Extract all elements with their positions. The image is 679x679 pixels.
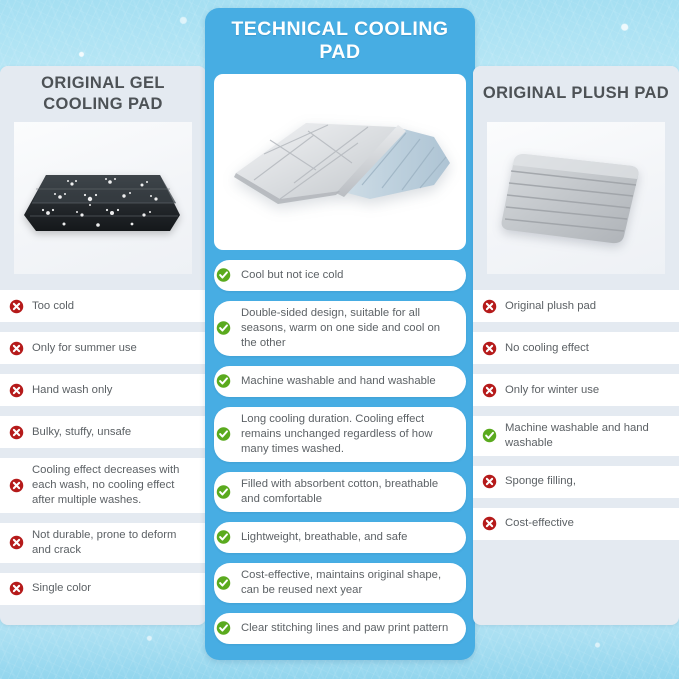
cross-circle-icon [482, 341, 497, 356]
cross-circle-icon [9, 341, 24, 356]
list-item-label: Lightweight, breathable, and safe [241, 530, 407, 545]
right-feature-list: Original plush padNo cooling effectOnly … [473, 290, 679, 540]
list-item: Cooling effect decreases with each wash,… [0, 458, 206, 513]
list-item-label: Only for winter use [505, 383, 599, 398]
cross-circle-icon [9, 383, 24, 398]
list-item: Too cold [0, 290, 206, 322]
list-item: Machine washable and hand washable [473, 416, 679, 456]
cross-circle-icon [9, 478, 24, 493]
check-circle-icon [216, 321, 231, 336]
left-feature-list: Too coldOnly for summer useHand wash onl… [0, 290, 206, 605]
cross-circle-icon [9, 299, 24, 314]
list-item: Single color [0, 573, 206, 605]
technical-cooling-pad-photo [220, 87, 460, 237]
left-panel-header: ORIGINAL GEL COOLING PAD [0, 66, 206, 122]
list-item: Sponge filling, [473, 466, 679, 498]
list-item: Double-sided design, suitable for all se… [214, 301, 466, 356]
list-item-label: Machine washable and hand washable [505, 421, 669, 451]
left-product-image [14, 122, 192, 274]
cross-circle-icon [482, 383, 497, 398]
list-item-label: Cool but not ice cold [241, 268, 343, 283]
cross-circle-icon [9, 535, 24, 550]
list-item-label: Cost-effective [505, 516, 574, 531]
list-item: Cool but not ice cold [214, 260, 466, 291]
list-item: Cost-effective, maintains original shape… [214, 563, 466, 603]
cross-circle-icon [9, 581, 24, 596]
list-item: Only for summer use [0, 332, 206, 364]
cross-circle-icon [482, 299, 497, 314]
list-item: Original plush pad [473, 290, 679, 322]
panel-original-plush-pad: ORIGINAL PLUSH PAD [473, 66, 679, 625]
right-panel-header: ORIGINAL PLUSH PAD [473, 66, 679, 122]
panel-original-gel-cooling-pad: ORIGINAL GEL COOLING PAD [0, 66, 206, 625]
check-circle-icon [216, 268, 231, 283]
check-circle-icon [216, 484, 231, 499]
list-item-label: Not durable, prone to deform and crack [32, 528, 196, 558]
list-item: Lightweight, breathable, and safe [214, 522, 466, 553]
left-panel-title: ORIGINAL GEL COOLING PAD [0, 73, 206, 115]
cross-circle-icon [482, 474, 497, 489]
gel-cooling-pad-photo [20, 155, 186, 241]
check-circle-icon [216, 621, 231, 636]
list-item-label: Long cooling duration. Cooling effect re… [241, 412, 454, 457]
check-circle-icon [482, 428, 497, 443]
list-item-label: Original plush pad [505, 299, 596, 314]
list-item-label: Cost-effective, maintains original shape… [241, 568, 454, 598]
list-item-label: Filled with absorbent cotton, breathable… [241, 477, 454, 507]
list-item-label: No cooling effect [505, 341, 589, 356]
list-item-label: Clear stitching lines and paw print patt… [241, 621, 448, 636]
list-item: Hand wash only [0, 374, 206, 406]
list-item: Bulky, stuffy, unsafe [0, 416, 206, 448]
list-item-label: Cooling effect decreases with each wash,… [32, 463, 196, 508]
cross-circle-icon [9, 425, 24, 440]
list-item: No cooling effect [473, 332, 679, 364]
panel-technical-cooling-pad: TECHNICAL COOLING PAD [205, 8, 475, 660]
list-item: Machine washable and hand washable [214, 366, 466, 397]
cross-circle-icon [482, 516, 497, 531]
check-circle-icon [216, 530, 231, 545]
list-item: Clear stitching lines and paw print patt… [214, 613, 466, 644]
check-circle-icon [216, 575, 231, 590]
center-panel-title: TECHNICAL COOLING PAD [214, 18, 466, 65]
list-item: Not durable, prone to deform and crack [0, 523, 206, 563]
list-item-label: Only for summer use [32, 341, 137, 356]
list-item: Only for winter use [473, 374, 679, 406]
check-circle-icon [216, 374, 231, 389]
list-item: Long cooling duration. Cooling effect re… [214, 407, 466, 462]
list-item-label: Sponge filling, [505, 474, 576, 489]
center-product-image [214, 74, 466, 250]
check-circle-icon [216, 427, 231, 442]
list-item: Filled with absorbent cotton, breathable… [214, 472, 466, 512]
comparison-board: ORIGINAL GEL COOLING PAD [0, 0, 679, 679]
plush-pad-photo [492, 138, 660, 258]
list-item-label: Double-sided design, suitable for all se… [241, 306, 454, 351]
list-item-label: Machine washable and hand washable [241, 374, 436, 389]
center-feature-list: Cool but not ice coldDouble-sided design… [214, 260, 466, 648]
list-item-label: Hand wash only [32, 383, 112, 398]
right-panel-title: ORIGINAL PLUSH PAD [483, 83, 669, 104]
right-product-image [487, 122, 665, 274]
list-item: Cost-effective [473, 508, 679, 540]
list-item-label: Single color [32, 581, 91, 596]
list-item-label: Bulky, stuffy, unsafe [32, 425, 131, 440]
list-item-label: Too cold [32, 299, 74, 314]
